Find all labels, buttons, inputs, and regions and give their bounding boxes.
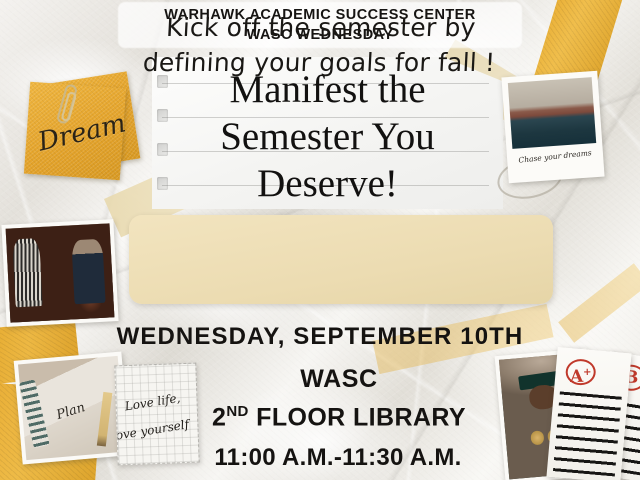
tabling-photo-image (6, 223, 115, 322)
photo-tabling-event (1, 219, 118, 327)
medal-icon (531, 431, 545, 445)
love-note-line-2: love yourself (114, 417, 190, 443)
polaroid-chase-your-dreams: Chase your dreams (501, 71, 604, 183)
title-line-2: Semester You (152, 113, 503, 160)
venue-floor-ordinal: ND (226, 403, 248, 420)
callout-box (129, 215, 553, 304)
callout-line-1: Kick off the semester by (0, 10, 640, 45)
pencil-icon (97, 391, 112, 445)
graded-test-paper-front: A+ (546, 347, 631, 480)
page-title: Manifest the Semester You Deserve! (152, 66, 503, 207)
grid-note-love-life: Love life, love yourself (114, 363, 199, 466)
landscape-photo (508, 77, 596, 149)
venue-floor-number: 2 (212, 403, 226, 431)
event-date: WEDNESDAY, SEPTEMBER 10TH (0, 323, 640, 351)
grade-a-letter: A (570, 367, 584, 387)
callout-line-2: defining your goals for fall ! (0, 45, 640, 80)
photo-plan-notebook: Plan (14, 351, 131, 464)
polaroid-caption: Chase your dreams (513, 148, 597, 166)
spiral-binding (19, 380, 50, 449)
grade-a-plus-sign: + (583, 367, 592, 378)
grade-mark-a-plus: A+ (565, 359, 595, 386)
test-paper-lines (553, 391, 622, 476)
title-line-3: Deserve! (152, 160, 503, 207)
callout-text: Kick off the semester by defining your g… (0, 10, 640, 80)
plan-photo-image: Plan (18, 356, 126, 460)
plan-handwriting: Plan (55, 400, 87, 423)
event-poster: Dream WARHAWK ACADEMIC SUCCESS CENTER WA… (0, 0, 640, 480)
venue-floor-rest: FLOOR LIBRARY (249, 403, 466, 431)
love-note-line-1: Love life, (124, 391, 181, 414)
